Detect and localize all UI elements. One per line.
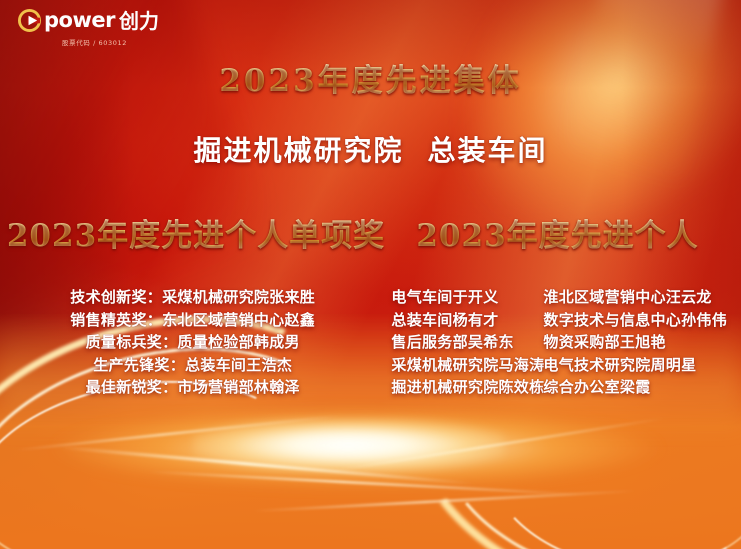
person-name-right: 物资采购部王旭艳: [543, 331, 727, 354]
person-name-left: 售后服务部吴希东: [391, 331, 543, 354]
subtitle: 掘进机械研究院总装车间: [0, 136, 741, 167]
award-list-left: 技术创新奖：采煤机械研究院张来胜 销售精英奖：东北区域营销中心赵鑫 质量标兵奖：…: [0, 286, 385, 399]
content-columns: 技术创新奖：采煤机械研究院张来胜 销售精英奖：东北区域营销中心赵鑫 质量标兵奖：…: [0, 286, 741, 399]
person-name-right: 综合办公室梁霞: [543, 376, 727, 399]
list-item: 掘进机械研究院陈效栋 综合办公室梁霞: [391, 376, 727, 399]
brand-logo-row: power 创力: [18, 9, 228, 32]
subtitle-part-2: 总装车间: [428, 134, 548, 167]
list-item: 质量标兵奖：质量检验部韩成男: [86, 331, 300, 354]
list-item: 生产先锋奖：总装车间王浩杰: [93, 354, 292, 377]
brand-name-cn: 创力: [119, 11, 159, 31]
section-headings: 2023年度先进个人单项奖 2023年度先进个人: [0, 219, 741, 253]
subtitle-part-1: 掘进机械研究院: [193, 134, 403, 167]
stock-code-label: 股票代码 / 603012: [62, 37, 228, 47]
person-name-left: 掘进机械研究院陈效栋: [391, 376, 543, 399]
person-name-left: 总装车间杨有才: [391, 309, 543, 332]
list-item: 电气车间于开义 淮北区域营销中心汪云龙: [391, 286, 727, 309]
person-name-left: 电气车间于开义: [391, 286, 543, 309]
heading-individual-special-award: 2023年度先进个人单项奖: [0, 219, 392, 253]
brand-logo: power 创力 股票代码 / 603012: [18, 9, 228, 47]
list-item: 总装车间杨有才 数字技术与信息中心孙伟伟: [391, 309, 727, 332]
person-name-left: 采煤机械研究院马海涛: [391, 354, 543, 377]
list-item: 售后服务部吴希东 物资采购部王旭艳: [391, 331, 727, 354]
award-poster: power 创力 股票代码 / 603012 2023年度先进集体 掘进机械研究…: [0, 0, 741, 549]
page-title: 2023年度先进集体: [0, 64, 741, 98]
person-name-right: 淮北区域营销中心汪云龙: [543, 286, 727, 309]
person-name-right: 数字技术与信息中心孙伟伟: [543, 309, 727, 332]
brand-name-en: power: [44, 10, 115, 31]
circle-arrow-logo-icon: [18, 9, 41, 32]
list-item: 技术创新奖：采煤机械研究院张来胜: [70, 286, 315, 309]
person-name-right: 电气技术研究院周明星: [543, 354, 727, 377]
list-item: 采煤机械研究院马海涛 电气技术研究院周明星: [391, 354, 727, 377]
list-item: 最佳新锐奖：市场营销部林翰泽: [86, 376, 300, 399]
list-item: 销售精英奖：东北区域营销中心赵鑫: [70, 309, 315, 332]
heading-individual-award: 2023年度先进个人: [392, 219, 741, 253]
award-list-right: 电气车间于开义 淮北区域营销中心汪云龙 总装车间杨有才 数字技术与信息中心孙伟伟…: [385, 286, 741, 399]
